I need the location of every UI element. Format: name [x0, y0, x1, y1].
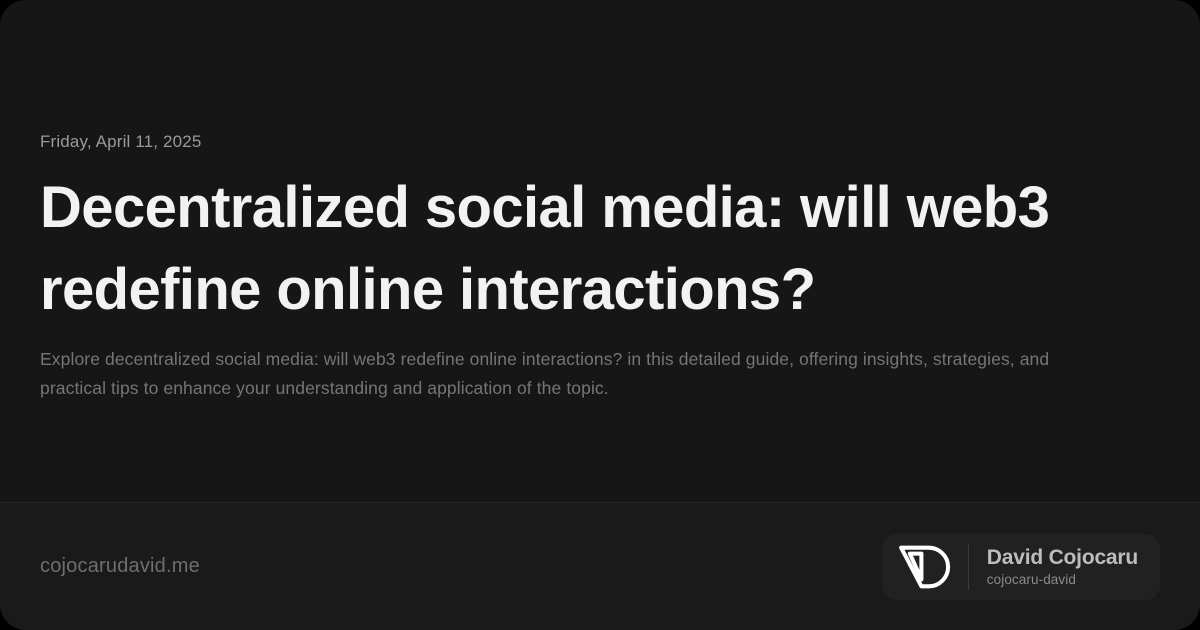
og-card: Friday, April 11, 2025 Decentralized soc…: [0, 0, 1200, 630]
main-content: Friday, April 11, 2025 Decentralized soc…: [0, 0, 1200, 502]
footer: cojocarudavid.me David Cojocaru cojocaru…: [0, 502, 1200, 630]
post-description: Explore decentralized social media: will…: [40, 345, 1105, 403]
author-badge[interactable]: David Cojocaru cojocaru-david: [882, 534, 1160, 600]
author-name: David Cojocaru: [987, 545, 1138, 570]
author-handle: cojocaru-david: [987, 571, 1138, 589]
author-info: David Cojocaru cojocaru-david: [987, 545, 1138, 589]
site-domain: cojocarudavid.me: [40, 555, 200, 578]
page-title: Decentralized social media: will web3 re…: [40, 167, 1120, 331]
badge-divider: [968, 544, 969, 590]
brand-d-logo-icon: [898, 544, 954, 590]
post-date: Friday, April 11, 2025: [40, 130, 1160, 154]
